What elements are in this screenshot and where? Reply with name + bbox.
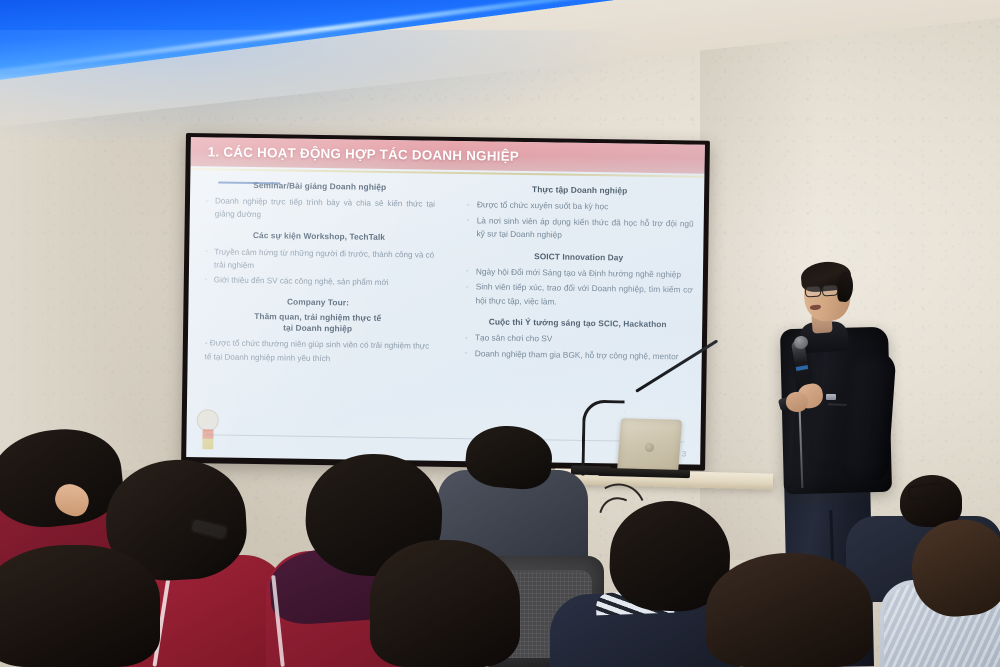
slide-right-column: Thực tập Doanh nghiệp -Được tổ chức xuyê… bbox=[443, 177, 704, 451]
eyeglasses-bridge-icon bbox=[820, 289, 824, 290]
bullet-text: Là nơi sinh viên áp dụng kiến thức đã họ… bbox=[476, 215, 693, 240]
gooseneck-microphone-icon[interactable] bbox=[581, 400, 624, 477]
slide-title: 1. CÁC HOẠT ĐỘNG HỢP TÁC DOANH NGHIỆP bbox=[208, 144, 520, 164]
audience-member-6-head bbox=[370, 540, 520, 667]
block-company-tour-heading-3: tại Doanh nghiệp bbox=[202, 322, 433, 337]
bullet-dash-icon: - bbox=[205, 273, 208, 286]
bullet-dash-icon: - bbox=[467, 198, 470, 211]
bullet-dash-icon: - bbox=[465, 346, 468, 359]
slide-left-column: Seminar/Bài giảng Doanh nghiệp -Doanh ng… bbox=[186, 173, 447, 447]
block-company-tour-heading: Company Tour: bbox=[202, 295, 433, 310]
block-company-tour-bullet-1: - Được tổ chức thường niên giúp sinh viê… bbox=[202, 337, 433, 367]
block-innovation-day-bullet-1: -Ngày hội Đổi mới Sáng tạo và Định hướng… bbox=[464, 265, 693, 282]
bullet-text: Truyền cảm hứng từ những người đi trước,… bbox=[214, 247, 434, 270]
block-workshop: Các sự kiện Workshop, TechTalk -Truyền c… bbox=[203, 230, 435, 290]
bullet-text: Sinh viên tiếp xúc, trao đổi với Doanh n… bbox=[475, 281, 692, 306]
bullet-dash-icon: - bbox=[465, 331, 468, 344]
block-hackathon: Cuộc thi Ý tưởng sáng tạo SCIC, Hackatho… bbox=[463, 316, 693, 363]
bullet-dash-icon: - bbox=[205, 244, 208, 257]
block-workshop-bullet-2: -Giới thiệu đến SV các công nghệ, sản ph… bbox=[203, 273, 434, 290]
bullet-text: Giới thiệu đến SV các công nghệ, sản phẩ… bbox=[214, 275, 389, 287]
microphone-stand-base bbox=[571, 466, 611, 476]
block-internship-bullet-1: -Được tổ chức xuyên suốt ba kỳ học bbox=[465, 198, 694, 215]
bullet-dash-icon: - bbox=[466, 264, 469, 277]
presentation-room-photo: 1. CÁC HOẠT ĐỘNG HỢP TÁC DOANH NGHIỆP Se… bbox=[0, 0, 1000, 667]
bullet-dash-icon: - bbox=[467, 213, 470, 226]
bullet-dash-icon: - bbox=[466, 280, 469, 293]
eyeglasses-left-lens-icon bbox=[805, 285, 822, 297]
block-innovation-day: SOICT Innovation Day -Ngày hội Đổi mới S… bbox=[463, 250, 693, 311]
block-company-tour: Company Tour: Thăm quan, trải nghiệm thự… bbox=[202, 295, 434, 366]
soict-logo-mark bbox=[202, 429, 213, 449]
block-workshop-bullet-1: -Truyền cảm hứng từ những người đi trước… bbox=[203, 245, 434, 275]
block-internship-bullet-2: -Là nơi sinh viên áp dụng kiến thức đã h… bbox=[464, 214, 693, 244]
block-hackathon-heading: Cuộc thi Ý tưởng sáng tạo SCIC, Hackatho… bbox=[463, 316, 692, 331]
bullet-text: Được tổ chức xuyên suốt ba kỳ học bbox=[477, 200, 609, 212]
wall-highlight-left bbox=[0, 90, 210, 470]
bullet-text: Doanh nghiệp trực tiếp trình bày và chia… bbox=[215, 197, 435, 220]
slide-content: 1. CÁC HOẠT ĐỘNG HỢP TÁC DOANH NGHIỆP Se… bbox=[186, 137, 705, 465]
block-internship-heading: Thực tập Doanh nghiệp bbox=[465, 183, 694, 198]
block-seminar-heading: Seminar/Bài giảng Doanh nghiệp bbox=[204, 179, 435, 194]
audience-member-5-head bbox=[0, 545, 160, 667]
presenter-sleeve bbox=[842, 351, 897, 482]
block-seminar-bullet-1: -Doanh nghiệp trực tiếp trình bày và chi… bbox=[204, 194, 435, 224]
eyeglasses-right-lens-icon bbox=[822, 284, 839, 296]
block-hackathon-bullet-1: -Tạo sân chơi cho SV bbox=[463, 331, 692, 348]
audience-member-8-head bbox=[706, 553, 872, 667]
slide-title-band: 1. CÁC HOẠT ĐỘNG HỢP TÁC DOANH NGHIỆP bbox=[191, 137, 705, 174]
block-innovation-day-heading: SOICT Innovation Day bbox=[464, 250, 693, 265]
slide-page-number: 3 bbox=[682, 449, 687, 458]
bullet-dash-icon: - bbox=[206, 194, 209, 207]
block-hackathon-bullet-2: -Doanh nghiệp tham gia BGK, hỗ trợ công … bbox=[463, 347, 692, 364]
block-seminar: Seminar/Bài giảng Doanh nghiệp -Doanh ng… bbox=[204, 179, 436, 224]
bullet-text: Tạo sân chơi cho SV bbox=[475, 332, 553, 343]
block-internship: Thực tập Doanh nghiệp -Được tổ chức xuyê… bbox=[464, 183, 694, 244]
bullet-text: Doanh nghiệp tham gia BGK, hỗ trợ công n… bbox=[475, 348, 679, 361]
block-workshop-heading: Các sự kiện Workshop, TechTalk bbox=[203, 230, 434, 245]
presenter-jacket-label bbox=[826, 394, 836, 400]
block-innovation-day-bullet-2: -Sinh viên tiếp xúc, trao đổi với Doanh … bbox=[463, 280, 692, 310]
slide-columns: Seminar/Bài giảng Doanh nghiệp -Doanh ng… bbox=[186, 173, 704, 451]
bullet-text: Ngày hội Đổi mới Sáng tạo và Định hướng … bbox=[476, 266, 681, 279]
